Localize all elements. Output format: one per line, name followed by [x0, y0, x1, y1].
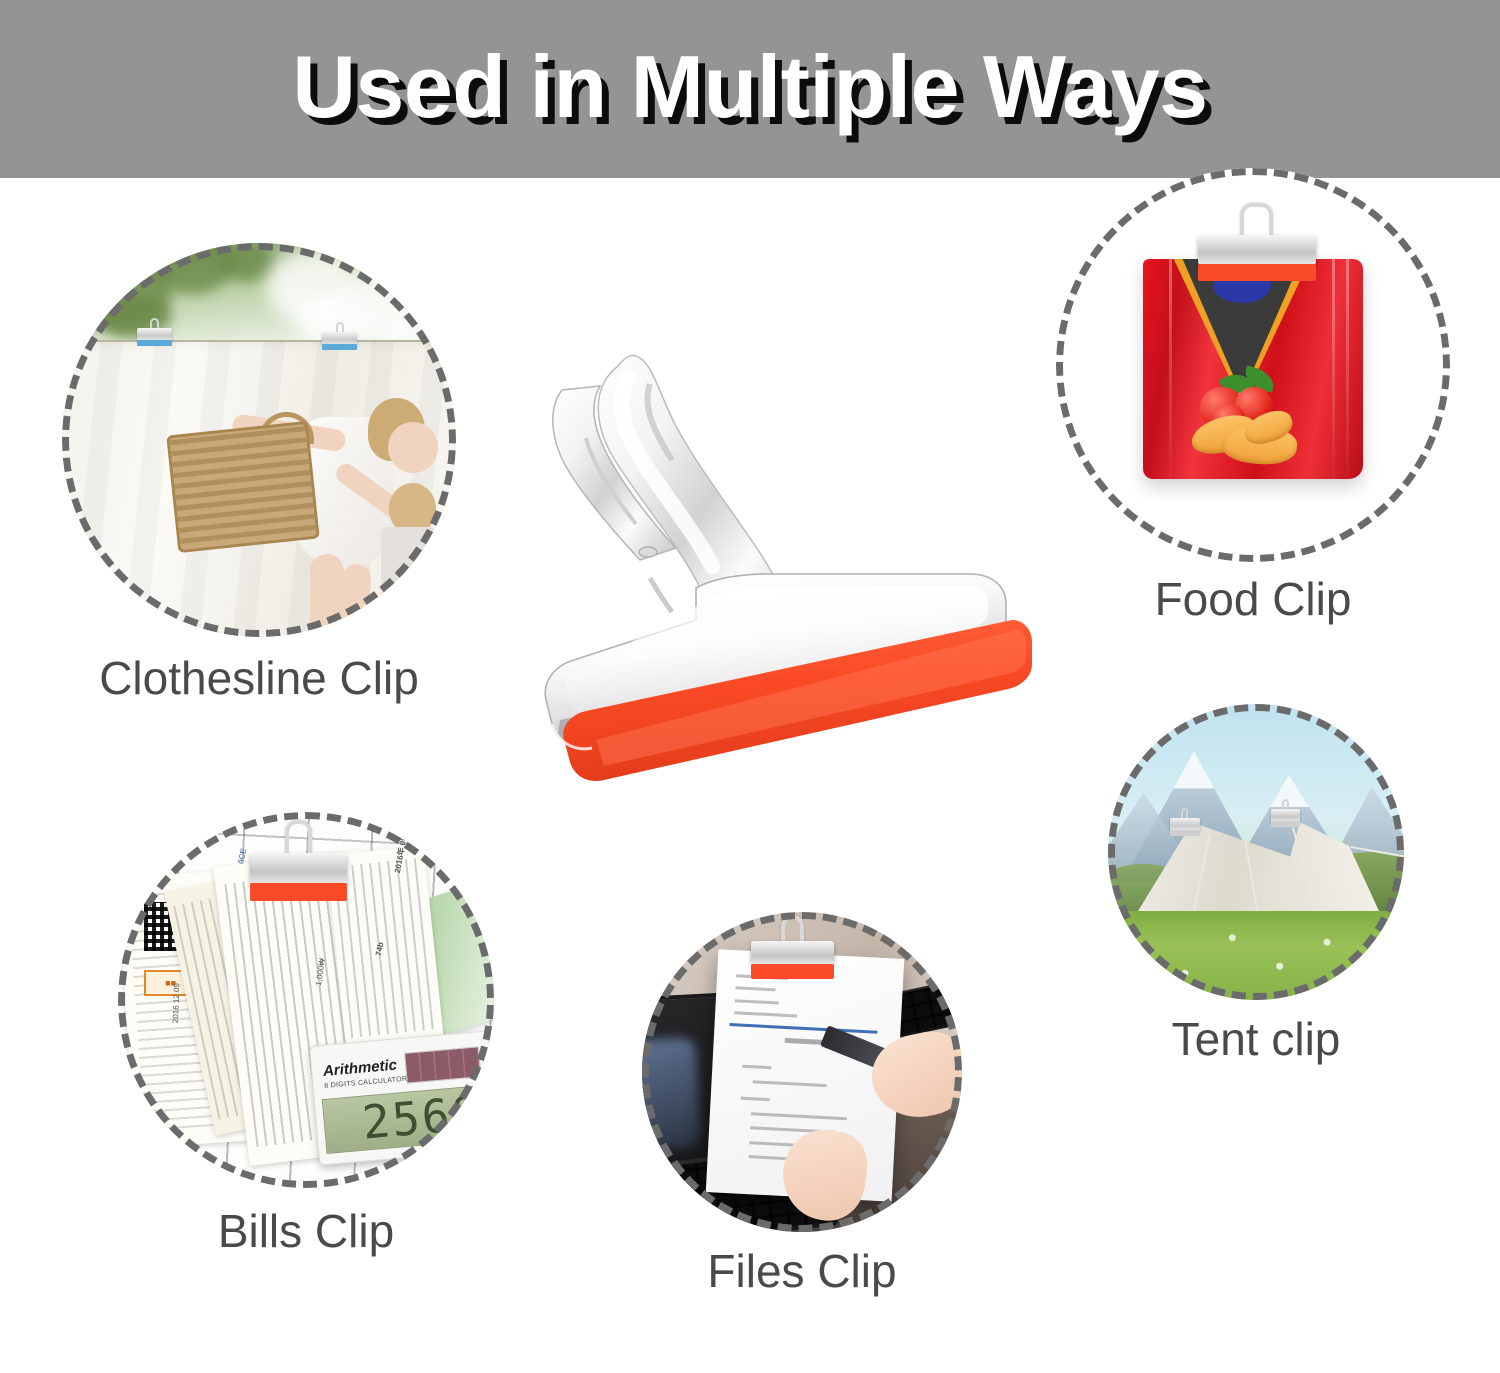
product-infographic: Used in Multiple Ways	[0, 0, 1500, 1373]
calculator-display: 2560	[321, 1085, 489, 1154]
calculator: Arithmetic 8 DIGITS CALCULATOR 56781 256…	[309, 1030, 494, 1166]
caption-bills: Bills Clip	[118, 1204, 494, 1258]
caption-food: Food Clip	[1056, 572, 1450, 626]
chip-clip-svg	[500, 320, 1080, 860]
tent-photo-circle	[1108, 704, 1404, 1000]
food-photo-circle	[1056, 168, 1450, 562]
clip-on-bills	[250, 820, 348, 903]
files-photo-circle	[642, 912, 962, 1232]
caption-files: Files Clip	[642, 1244, 962, 1298]
clip-on-line-left	[137, 318, 172, 350]
feature-clothesline: Clothesline Clip	[62, 243, 456, 637]
clip-on-line-right	[322, 322, 357, 354]
clip-on-food-bag	[1198, 203, 1316, 282]
chip-bag	[1143, 259, 1364, 480]
food-photo	[1056, 168, 1450, 562]
solar-panel	[403, 1046, 480, 1083]
caption-clothesline: Clothesline Clip	[62, 651, 456, 705]
feature-tent: Tent clip	[1108, 704, 1404, 1000]
product-hero-image	[500, 320, 1080, 860]
calculator-brand: Arithmetic	[322, 1056, 397, 1079]
clip-on-tent-left	[1170, 808, 1200, 835]
clothesline-photo-circle	[62, 243, 456, 637]
feature-bills: 100 ■■ 2016 12 09 LOVE ALL - SERVICE 1,0…	[118, 812, 494, 1188]
caption-tent: Tent clip	[1108, 1012, 1404, 1066]
header-banner: Used in Multiple Ways	[0, 0, 1500, 178]
clothesline-photo	[62, 243, 456, 637]
bills-photo-circle: 100 ■■ 2016 12 09 LOVE ALL - SERVICE 1,0…	[118, 812, 494, 1188]
page-title: Used in Multiple Ways	[0, 36, 1500, 138]
tent-photo	[1108, 704, 1404, 1000]
files-photo	[642, 912, 962, 1232]
feature-food: Food Clip	[1056, 168, 1450, 562]
clip-on-tent-right	[1271, 799, 1301, 826]
bills-photo: 100 ■■ 2016 12 09 LOVE ALL - SERVICE 1,0…	[118, 812, 494, 1188]
feature-files: Files Clip	[642, 912, 962, 1232]
clip-on-document	[751, 915, 834, 979]
